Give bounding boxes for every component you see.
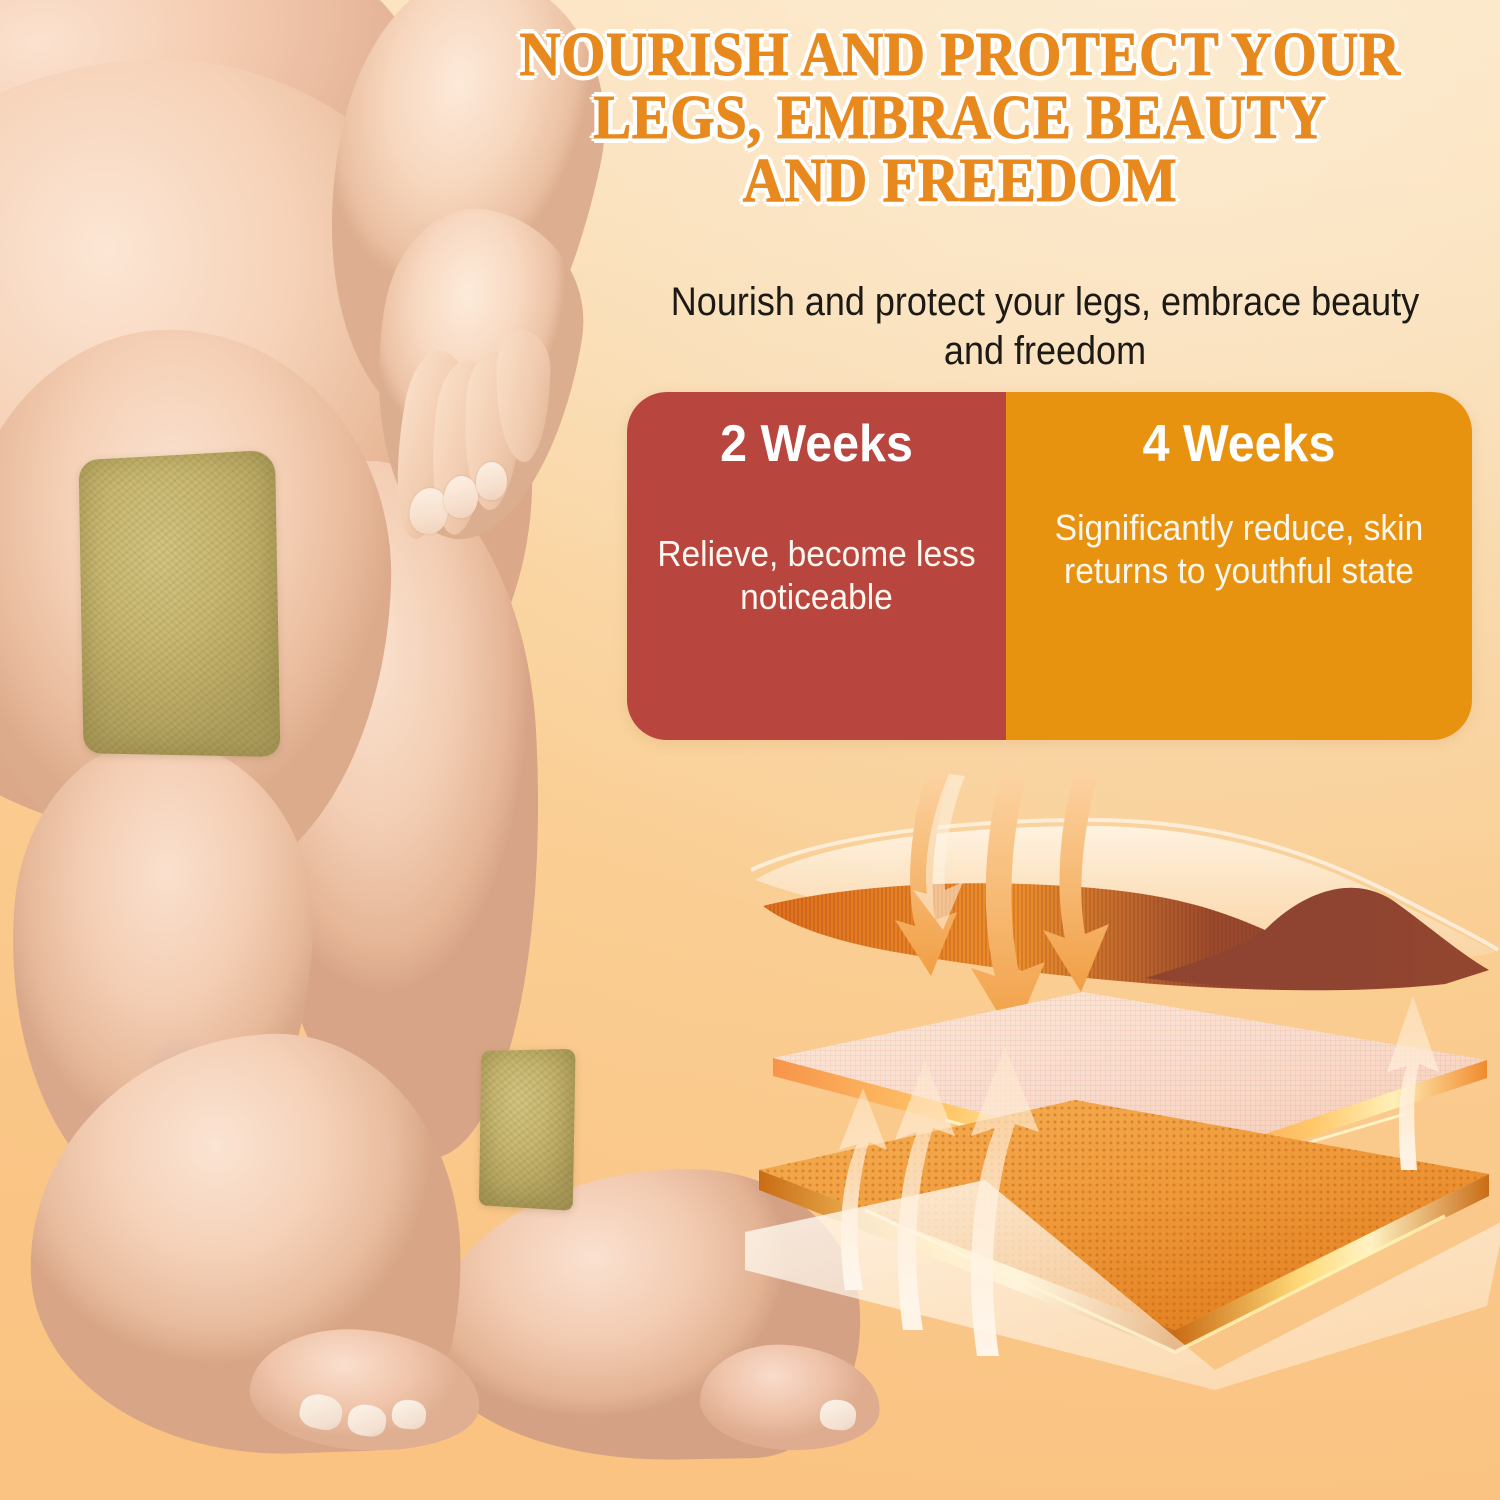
panel-title-4-weeks: 4 Weeks <box>1039 418 1439 470</box>
layer-diagram-svg <box>745 770 1500 1390</box>
subtitle: Nourish and protect your legs, embrace b… <box>645 278 1446 376</box>
poster-canvas: NOURISH AND PROTECT YOUR LEGS, EMBRACE B… <box>0 0 1500 1500</box>
panel-body-2-weeks: Relieve, become less noticeable <box>657 532 976 618</box>
comparison-card: 2 Weeks Relieve, become less noticeable … <box>627 392 1472 740</box>
toenail <box>391 1399 427 1431</box>
product-photo <box>0 0 760 1500</box>
herbal-patch-calf <box>79 450 281 757</box>
diagram-layer-skin <box>751 820 1498 990</box>
layer-diagram <box>745 770 1500 1390</box>
headline-line-3: AND FREEDOM <box>463 150 1457 213</box>
herbal-patch-ankle <box>479 1049 576 1211</box>
panel-title-2-weeks: 2 Weeks <box>657 418 976 470</box>
headline-line-2: LEGS, EMBRACE BEAUTY <box>463 87 1457 150</box>
headline-line-1: NOURISH AND PROTECT YOUR <box>463 24 1457 87</box>
panel-body-4-weeks: Significantly reduce, skin returns to yo… <box>1039 506 1439 592</box>
comparison-panel-2-weeks: 2 Weeks Relieve, become less noticeable <box>627 392 1006 740</box>
comparison-panel-4-weeks: 4 Weeks Significantly reduce, skin retur… <box>1006 392 1472 740</box>
page-title: NOURISH AND PROTECT YOUR LEGS, EMBRACE B… <box>463 24 1457 214</box>
